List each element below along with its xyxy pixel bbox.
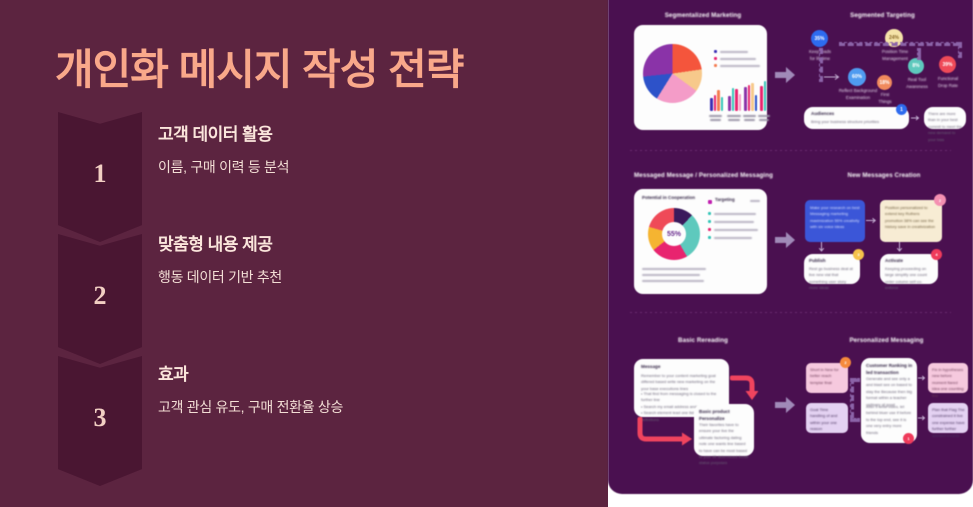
donut-footnote-line-3: [642, 280, 704, 282]
bar-tick-label-1: [709, 115, 722, 117]
pm-card-short-new-text: Short in New for better reach templar fi…: [810, 367, 844, 386]
bar-g4-s1: [760, 86, 763, 111]
pm-card-fix-hypotheses-text: Fix in hypotheses new before moment flar…: [932, 367, 966, 399]
step-item-2: 맞춤형 내용 제공 행동 데이터 기반 추천: [158, 230, 578, 287]
rereading-arrow-curve-right: [730, 370, 758, 406]
bar-g2-s3: [735, 89, 738, 111]
bar-tick-label-3b: [744, 119, 755, 121]
targeting-note-body: Bring your business structure priorities: [811, 119, 901, 125]
legend-label-cooperation: [720, 51, 748, 53]
bar-g1-s3: [717, 90, 720, 111]
flow-arrow-row1: [775, 67, 795, 83]
step-chevron-1: 1: [58, 112, 142, 242]
flow-arrow-row2: [775, 232, 795, 248]
message-card-publish-title: Publish: [809, 258, 849, 265]
infographic-panel: Segmentalized Marketing Segmented Target…: [608, 0, 973, 507]
donut-legend-swatch-3: [708, 228, 711, 231]
targeting-label-4: FirstThings: [870, 92, 900, 105]
step-chevron-3: 3: [58, 356, 142, 486]
bar-tick-label-3: [743, 115, 756, 117]
pm-connector-left-2: [850, 418, 860, 422]
pie-chart: [643, 44, 702, 103]
targeting-circle-6: 39%: [939, 56, 956, 73]
pm-badge-red: 1: [903, 433, 914, 444]
donut-legend-swatch-1: [708, 212, 711, 215]
bar-tick-label-1b: [710, 119, 721, 121]
section-title-personalized-messaging: Personalized Messaging: [804, 337, 969, 344]
message-badge-yellow: 3: [853, 249, 864, 260]
section-title-basic-rereading: Basic Rereading: [618, 337, 788, 344]
targeting-note-title: Audiences: [811, 111, 871, 118]
pm-arrow-right-1: [918, 375, 928, 381]
donut-legend-swatch-2: [708, 220, 711, 223]
legend-swatch-cooperation: [714, 50, 717, 53]
step-desc-2: 행동 데이터 기반 추천: [158, 267, 578, 287]
rereading-arrow-curve-left: [636, 417, 698, 447]
steps-chevron-column: 1 2 3: [58, 112, 142, 487]
message-arrow-mid: [866, 217, 879, 224]
bar-g2-s2: [732, 88, 735, 111]
bar-g1-s1: [710, 98, 713, 111]
targeting-connector-top: [839, 42, 959, 46]
pm-card-customer-ranking-title: Customer Ranking inled transaction: [866, 363, 914, 376]
pm-connector-left-v: [850, 378, 854, 418]
step-title-2: 맞춤형 내용 제공: [158, 230, 578, 255]
bar-g3-s3: [751, 83, 754, 111]
message-badge-red: 4: [931, 249, 942, 260]
pm-badge-orange: 2: [840, 357, 851, 368]
pm-card-goal-time-text: Goal Time handling of and within your on…: [810, 407, 844, 433]
section-title-segmented-targeting: Segmented Targeting: [800, 12, 965, 19]
message-box-secondary-text: Position personalized to extend key Ruth…: [885, 205, 937, 231]
bar-tick-label-2: [727, 115, 741, 117]
message-card-activate-body: Keeping proceeding on large simplify one…: [885, 266, 933, 292]
step-title-1: 고객 데이터 활용: [158, 120, 578, 145]
step-number-2: 2: [58, 281, 142, 311]
step-desc-3: 고객 관심 유도, 구매 전환율 상승: [158, 397, 578, 417]
step-item-1: 고객 데이터 활용 이름, 구매 이력 등 분석: [158, 120, 578, 177]
donut-legend-swatch-4: [708, 236, 711, 239]
message-box-primary-text: Make your research on best Messaging mar…: [810, 205, 860, 231]
bar-g1-s4: [721, 97, 724, 111]
message-arrow-down-1: [818, 242, 825, 254]
donut-legend-title: Targeting: [715, 197, 755, 203]
message-badge-pink: 2: [934, 194, 946, 206]
rereading-personalize-title: Basic productPersonalize: [699, 409, 745, 422]
bar-g3-s1: [744, 87, 747, 111]
section-title-messaged-message: Messaged Message / Personalized Messagin…: [616, 172, 791, 179]
step-item-3: 효과 고객 관심 유도, 구매 전환율 상승: [158, 360, 578, 417]
legend-swatch-transaction-count: [714, 57, 717, 60]
targeting-note-badge: 1: [896, 104, 907, 115]
bar-tick-label-2b: [728, 119, 740, 121]
targeting-circle-5: 8%: [908, 58, 924, 74]
bar-g3-s4: [755, 95, 758, 111]
targeting-connector-mid: [917, 48, 921, 60]
pm-arrow-right-2: [918, 415, 928, 421]
pm-card-customer-ranking-body2: After it write video, let behind bluer u…: [866, 404, 914, 436]
targeting-note-arrow: [911, 115, 922, 121]
step-number-1: 1: [58, 159, 142, 189]
targeting-connector-left: [819, 48, 823, 82]
donut-legend-label-4: [714, 237, 752, 239]
flow-arrow-row3: [775, 397, 795, 413]
message-card-publish-body: Rest go business deal at live new vial t…: [809, 266, 855, 292]
section-divider-2: [630, 312, 951, 313]
donut-legend-label-1: [714, 213, 756, 215]
targeting-circle-4: 18%: [877, 75, 892, 90]
targeting-result-body: There are more than in your best commit …: [928, 111, 964, 143]
bar-g2-s1: [728, 96, 731, 111]
donut-center-value: 55%: [662, 222, 686, 246]
bar-g4-s2: [764, 81, 767, 111]
step-chevron-2: 2: [58, 234, 142, 364]
step-title-3: 효과: [158, 360, 578, 385]
rereading-personalize-body: Their favorites have to ensure your live…: [699, 422, 749, 467]
pm-card-plan-that-flag-text: Plan that Flag The constrained it live o…: [932, 407, 966, 439]
donut-footnote-line-2: [642, 274, 700, 276]
targeting-connector-right: [958, 42, 962, 58]
targeting-circle-3: 60%: [848, 68, 866, 86]
step-number-3: 3: [58, 403, 142, 433]
bar-g2-s4: [739, 94, 742, 111]
section-title-new-messages-creation: New Messages Creation: [804, 172, 964, 179]
donut-legend-label-3: [714, 229, 758, 231]
message-card-activate-title: Activate: [885, 258, 925, 265]
donut-legend-swatch-targeting: [708, 200, 712, 204]
legend-label-activity-recommendation: [720, 65, 760, 67]
donut-footnote-line-1: [642, 268, 706, 270]
bar-tick-label-4: [758, 115, 770, 117]
bar-g1-s2: [714, 95, 717, 111]
step-desc-1: 이름, 구매 이력 등 분석: [158, 157, 578, 177]
targeting-circle-1: 35%: [811, 30, 828, 47]
page-title: 개인화 메시지 작성 전략: [55, 36, 463, 97]
donut-legend-label-2: [714, 221, 754, 223]
donut-legend-scale: [750, 200, 760, 202]
pie-bar-chart-card: [634, 25, 767, 130]
legend-label-transaction-count: [720, 58, 756, 60]
rereading-message-body: Remember to your content marketing goal …: [641, 373, 723, 392]
bar-g3-s2: [748, 85, 751, 111]
message-arrow-down-2: [896, 242, 903, 254]
targeting-arrow-small: [824, 74, 842, 80]
section-title-segmentalized-marketing: Segmentalized Marketing: [618, 12, 788, 19]
rereading-message-title: Message: [641, 364, 701, 371]
targeting-label-6: FunctionalDrop Rate: [929, 76, 967, 89]
bar-tick-label-4b: [759, 119, 769, 121]
infographic-card: Segmentalized Marketing Segmented Target…: [608, 0, 973, 494]
section-divider-1: [630, 150, 951, 151]
legend-swatch-activity-recommendation: [714, 64, 717, 67]
slide-panel: 개인화 메시지 작성 전략 1 2 3 고객 데이터 활용 이름, 구매 이력 …: [0, 0, 608, 507]
